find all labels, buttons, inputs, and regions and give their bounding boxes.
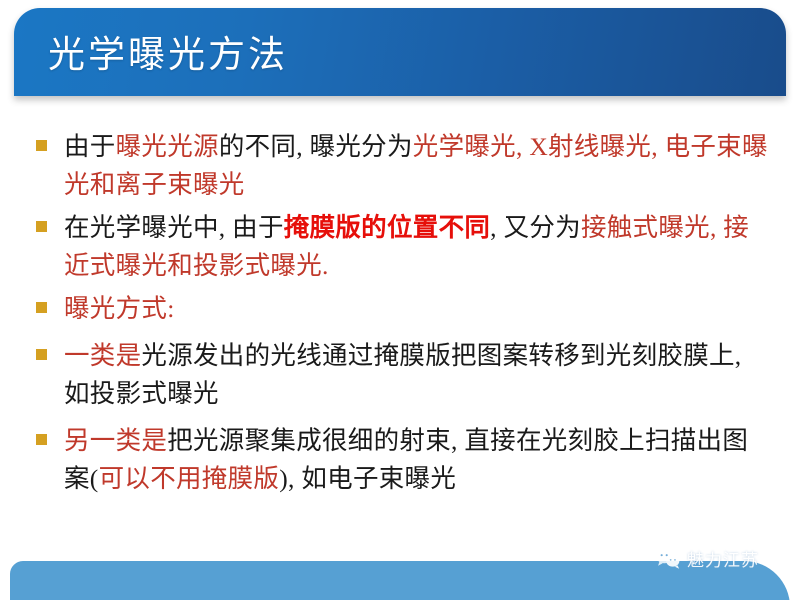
bullet-5-seg-3: ), 如电子束曝光	[279, 464, 456, 493]
bullet-square-icon	[36, 221, 47, 232]
bullet-4-seg-0: 一类是	[64, 341, 141, 370]
bullet-2-seg-2: , 又分为	[490, 213, 581, 242]
spacer	[0, 328, 800, 337]
spacer	[0, 413, 800, 422]
watermark-text: 魅力江苏	[687, 546, 759, 571]
bullet-item-1: 由于曝光光源的不同, 曝光分为光学曝光, X射线曝光, 电子束曝光和离子束曝光	[0, 128, 800, 204]
bullet-3-seg-0: 曝光方式:	[64, 294, 175, 323]
bullet-1-seg-1: 曝光光源	[116, 132, 219, 161]
bullet-1-seg-2: 的不同, 曝光分为	[219, 132, 413, 161]
bullet-square-icon	[36, 140, 47, 151]
bullet-item-2: 在光学曝光中, 由于掩膜版的位置不同, 又分为接触式曝光, 接近式曝光和投影式曝…	[0, 209, 800, 285]
bullet-item-5: 另一类是把光源聚集成很细的射束, 直接在光刻胶上扫描出图案(可以不用掩膜版), …	[0, 422, 800, 498]
bullet-2-seg-1: 掩膜版的位置不同	[284, 213, 490, 242]
bullet-item-3: 曝光方式:	[0, 290, 800, 328]
bullet-square-icon	[36, 434, 47, 445]
bullet-text-3: 曝光方式:	[64, 290, 772, 328]
watermark: 魅力江苏	[655, 546, 759, 571]
bullet-square-icon	[36, 302, 47, 313]
slide-canvas: 光学曝光方法 由于曝光光源的不同, 曝光分为光学曝光, X射线曝光, 电子束曝光…	[0, 0, 800, 600]
bullet-1-seg-0: 由于	[64, 132, 116, 161]
bullet-5-seg-2: 可以不用掩膜版	[99, 464, 280, 493]
bullet-text-4: 一类是光源发出的光线通过掩膜版把图案转移到光刻胶膜上, 如投影式曝光	[64, 337, 772, 413]
slide-content: 由于曝光光源的不同, 曝光分为光学曝光, X射线曝光, 电子束曝光和离子束曝光 …	[0, 128, 800, 498]
bullet-text-5: 另一类是把光源聚集成很细的射束, 直接在光刻胶上扫描出图案(可以不用掩膜版), …	[64, 422, 772, 498]
bullet-2-seg-0: 在光学曝光中, 由于	[64, 213, 284, 242]
page-title: 光学曝光方法	[48, 24, 288, 78]
bullet-text-2: 在光学曝光中, 由于掩膜版的位置不同, 又分为接触式曝光, 接近式曝光和投影式曝…	[64, 209, 772, 285]
bullet-5-seg-0: 另一类是	[64, 426, 167, 455]
wechat-icon	[655, 548, 681, 570]
bullet-text-1: 由于曝光光源的不同, 曝光分为光学曝光, X射线曝光, 电子束曝光和离子束曝光	[64, 128, 772, 204]
bullet-square-icon	[36, 349, 47, 360]
bullet-4-seg-1: 光源发出的光线通过掩膜版把图案转移到光刻胶膜上, 如投影式曝光	[64, 341, 741, 408]
bullet-item-4: 一类是光源发出的光线通过掩膜版把图案转移到光刻胶膜上, 如投影式曝光	[0, 337, 800, 413]
slide-title-bar: 光学曝光方法	[14, 8, 786, 96]
